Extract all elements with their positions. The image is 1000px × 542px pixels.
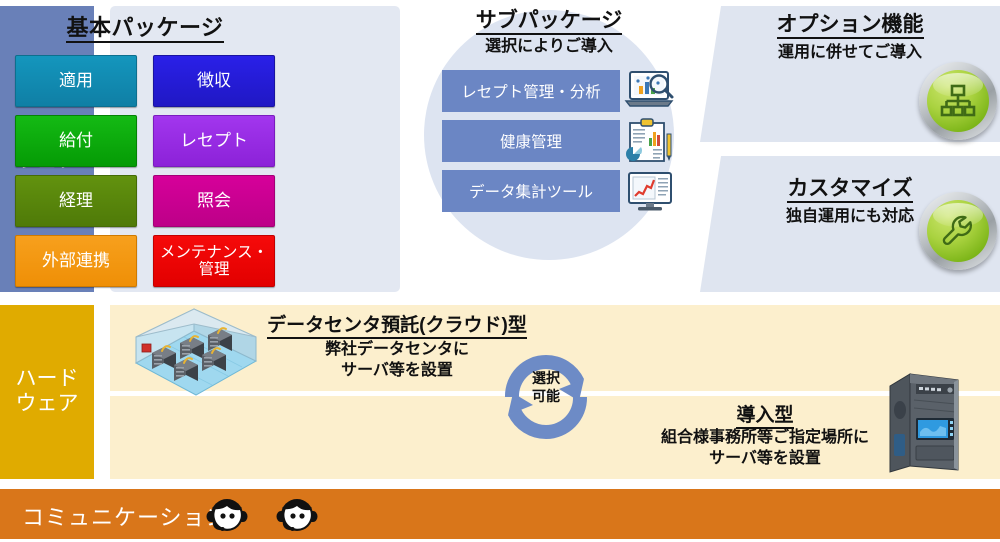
- wrench-icon: [927, 200, 989, 262]
- option-badge[interactable]: [919, 62, 997, 140]
- datacenter-title-text: データセンタ預託(クラウド)型: [267, 315, 527, 339]
- onpremise-title-text: 導入型: [736, 405, 793, 429]
- tile-maintenance-line1: メンテナンス・: [160, 244, 268, 261]
- customize-title-text: カスタマイズ: [787, 177, 912, 203]
- sub-package-row-kenkou: 健康管理: [442, 118, 676, 164]
- tile-gaibu-renkei[interactable]: 外部連携: [15, 235, 137, 287]
- headset-operator-icon: [275, 493, 319, 537]
- sub-package-item-recept[interactable]: レセプト管理・分析: [442, 70, 620, 112]
- cycle-label: 選択 可能: [492, 370, 600, 405]
- clipboard-charts-icon: [624, 118, 676, 164]
- sub-package-row-recept: レセプト管理・分析: [442, 68, 676, 114]
- tile-recept[interactable]: レセプト: [153, 115, 275, 167]
- basic-package-tile-grid: 適用 徴収 給付 レセプト 経理 照会 外部連携 メンテナンス・ 管理: [15, 55, 275, 287]
- tile-kyuufu[interactable]: 給付: [15, 115, 137, 167]
- onpremise-title: 導入型: [610, 400, 920, 427]
- cycle-label-line2: 可能: [492, 388, 600, 406]
- tile-keiri[interactable]: 経理: [15, 175, 137, 227]
- sub-package-item-kenkou[interactable]: 健康管理: [442, 120, 620, 162]
- laptop-chart-magnifier-icon: [624, 68, 676, 114]
- cycle-label-line1: 選択: [492, 370, 600, 388]
- sub-package-item-shuukei[interactable]: データ集計ツール: [442, 170, 620, 212]
- category-panel-hardware: ハード ウェア: [0, 305, 94, 479]
- org-chart-icon: [927, 70, 989, 132]
- tile-tekiyou[interactable]: 適用: [15, 55, 137, 107]
- monitor-trendline-icon: [624, 168, 676, 214]
- category-label-hardware-line1: ハード: [16, 367, 79, 392]
- tile-shoukai[interactable]: 照会: [153, 175, 275, 227]
- server-tower-image: [876, 358, 972, 476]
- tile-choushuu[interactable]: 徴収: [153, 55, 275, 107]
- communication-label: コミュニケーション: [22, 500, 229, 532]
- tile-maintenance-line2: 管理: [160, 261, 268, 278]
- basic-package-title-text: 基本パッケージ: [66, 15, 223, 43]
- customize-badge[interactable]: [919, 192, 997, 270]
- option-title-text: オプション機能: [777, 13, 924, 39]
- sub-package-subtitle: 選択によりご導入: [424, 32, 674, 56]
- datacenter-title: データセンタ預託(クラウド)型: [232, 310, 562, 337]
- basic-package-title: 基本パッケージ: [0, 10, 290, 42]
- sub-package-title: サブパッケージ: [424, 4, 674, 34]
- option-title: オプション機能: [700, 8, 1000, 38]
- category-label-hardware-line2: ウェア: [16, 392, 79, 417]
- headset-operator-icon: [205, 493, 249, 537]
- option-subtitle: 運用に併せてご導入: [700, 38, 1000, 62]
- sub-package-row-shuukei: データ集計ツール: [442, 168, 676, 214]
- tile-maintenance[interactable]: メンテナンス・ 管理: [153, 235, 275, 287]
